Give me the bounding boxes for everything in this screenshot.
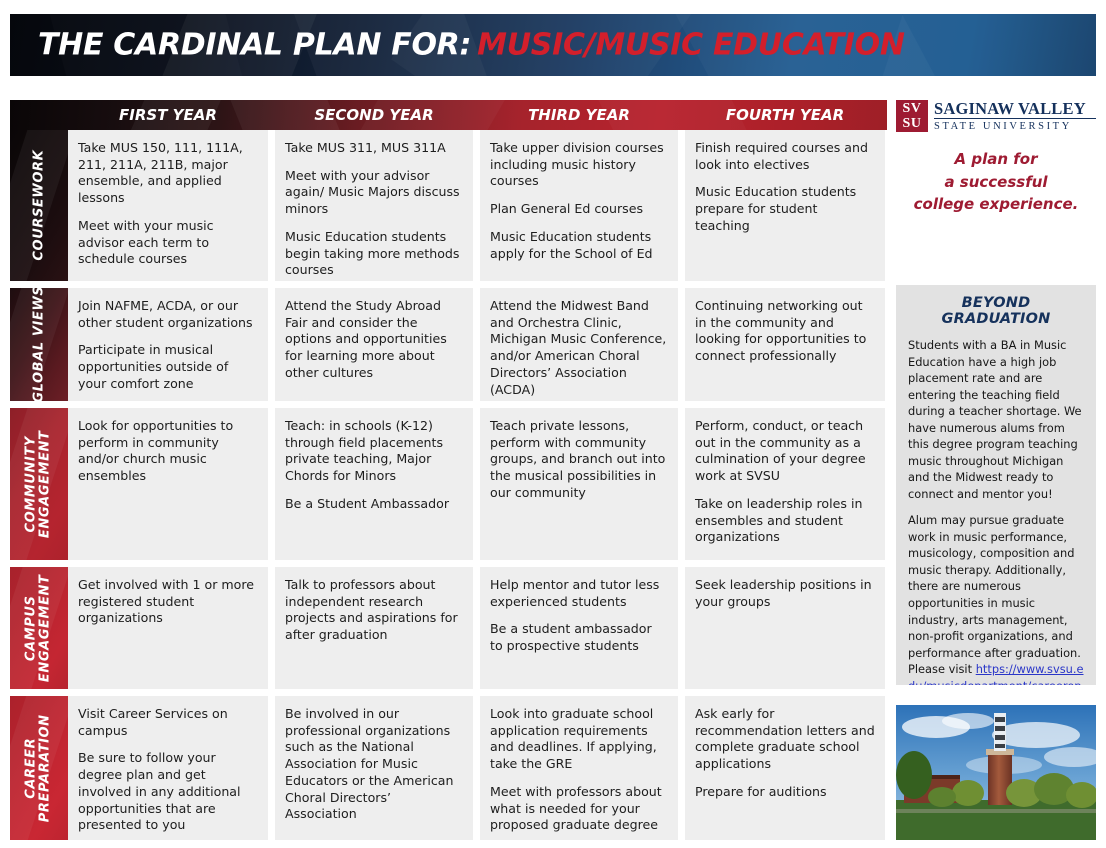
row-label-text: GLOBAL VIEWS [32,288,46,401]
banner-title-red: MUSIC/MUSIC EDUCATION [477,28,904,63]
beyond-paragraph-1: Students with a BA in Music Education ha… [908,337,1084,502]
svsu-logo: SV SU SAGINAW VALLEY STATE UNIVERSITY [896,100,1096,132]
cell-paragraph-1: Get involved with 1 or more registered s… [78,577,258,627]
row-label-coursework: COURSEWORK [10,130,68,281]
cell-r2-c4: Continuing networking out in the communi… [685,288,885,401]
cell-paragraph-1: Attend the Study Abroad Fair and conside… [285,298,463,382]
cell-paragraph-2: Take on leadership roles in ensembles an… [695,496,875,546]
page-banner: THE CARDINAL PLAN FOR:MUSIC/MUSIC EDUCAT… [10,14,1096,76]
beyond-graduation-panel: BEYOND GRADUATION Students with a BA in … [896,285,1096,685]
cell-paragraph-1: Join NAFME, ACDA, or our other student o… [78,298,258,331]
tagline-line-1: A plan for [896,148,1096,171]
cell-r2-c1: Join NAFME, ACDA, or our other student o… [68,288,268,401]
cell-paragraph-1: Teach private lessons, perform with comm… [490,418,668,502]
cell-paragraph-2: Meet with your music advisor each term t… [78,218,258,268]
cell-r5-c3: Look into graduate school application re… [480,696,678,840]
cell-paragraph-3: Music Education students begin taking mo… [285,229,463,279]
cell-paragraph-1: Help mentor and tutor less experienced s… [490,577,668,610]
row-label-community-engagement: COMMUNITYENGAGEMENT [10,408,68,560]
cell-paragraph-1: Perform, conduct, or teach out in the co… [695,418,875,485]
row-label-global-views: GLOBAL VIEWS [10,288,68,401]
cardinal-plan-infographic: THE CARDINAL PLAN FOR:MUSIC/MUSIC EDUCAT… [0,0,1106,848]
tagline-line-2: a successful [896,171,1096,194]
cell-paragraph-2: Prepare for auditions [695,784,875,801]
plan-grid: FIRST YEARSECOND YEARTHIRD YEARFOURTH YE… [10,100,1096,840]
cell-paragraph-2: Plan General Ed courses [490,201,668,218]
cell-paragraph-2: Be sure to follow your degree plan and g… [78,750,258,834]
tagline-line-3: college experience. [896,193,1096,216]
cell-paragraph-1: Ask early for recommendation letters and… [695,706,875,773]
beyond-graduation-title: BEYOND GRADUATION [908,295,1084,327]
cell-r4-c4: Seek leadership positions in your groups [685,567,885,689]
beyond-paragraph-2: Alum may pursue graduate work in music p… [908,512,1084,685]
cell-paragraph-3: Music Education students apply for the S… [490,229,668,262]
cell-paragraph-2: Meet with professors about what is neede… [490,784,668,834]
cell-r4-c1: Get involved with 1 or more registered s… [68,567,268,689]
cell-r1-c4: Finish required courses and look into el… [685,130,885,281]
logo-mark-line1: SV [896,101,928,116]
cell-paragraph-2: Participate in musical opportunities out… [78,342,258,392]
cell-r4-c2: Talk to professors about independent res… [275,567,473,689]
svsu-logo-mark: SV SU [896,100,928,132]
cell-paragraph-1: Attend the Midwest Band and Orchestra Cl… [490,298,668,398]
row-label-text: COURSEWORK [32,150,46,261]
cell-paragraph-1: Take MUS 311, MUS 311A [285,140,463,157]
cell-r2-c3: Attend the Midwest Band and Orchestra Cl… [480,288,678,401]
cell-r5-c2: Be involved in our professional organiza… [275,696,473,840]
cell-paragraph-1: Take upper division courses including mu… [490,140,668,190]
cell-paragraph-2: Music Education students prepare for stu… [695,184,875,234]
cell-paragraph-1: Seek leadership positions in your groups [695,577,875,610]
row-label-text: CAREERPREPARATION [25,714,54,822]
cell-paragraph-1: Look for opportunities to perform in com… [78,418,258,485]
cell-r1-c3: Take upper division courses including mu… [480,130,678,281]
cell-r3-c4: Perform, conduct, or teach out in the co… [685,408,885,560]
cell-paragraph-1: Look into graduate school application re… [490,706,668,773]
column-header-1: FIRST YEAR [68,100,268,130]
campus-photo-image [896,705,1096,840]
page-title: THE CARDINAL PLAN FOR:MUSIC/MUSIC EDUCAT… [38,28,905,63]
cell-r3-c3: Teach private lessons, perform with comm… [480,408,678,560]
column-header-3: THIRD YEAR [480,100,678,130]
cell-paragraph-1: Visit Career Services on campus [78,706,258,739]
cell-r3-c2: Teach: in schools (K-12) through field p… [275,408,473,560]
cell-paragraph-2: Be a Student Ambassador [285,496,463,513]
column-header-4: FOURTH YEAR [685,100,885,130]
cell-r5-c4: Ask early for recommendation letters and… [685,696,885,840]
banner-title-white: THE CARDINAL PLAN FOR: [38,28,471,63]
row-label-campus-engagement: CAMPUSENGAGEMENT [10,567,68,689]
cell-paragraph-1: Continuing networking out in the communi… [695,298,875,365]
cell-paragraph-1: Be involved in our professional organiza… [285,706,463,823]
logo-name-line1: SAGINAW VALLEY [934,100,1096,119]
row-label-career-preparation: CAREERPREPARATION [10,696,68,840]
tagline: A plan fora successfulcollege experience… [896,148,1096,216]
column-header-2: SECOND YEAR [275,100,473,130]
cell-paragraph-1: Finish required courses and look into el… [695,140,875,173]
beyond-p2-before: Alum may pursue graduate work in music p… [908,513,1081,676]
row-label-text: COMMUNITYENGAGEMENT [25,430,54,538]
cell-r2-c2: Attend the Study Abroad Fair and conside… [275,288,473,401]
svsu-logo-wordmark: SAGINAW VALLEY STATE UNIVERSITY [934,100,1096,133]
logo-mark-line2: SU [896,116,928,131]
row-label-text: CAMPUSENGAGEMENT [25,574,54,682]
cell-r1-c2: Take MUS 311, MUS 311AMeet with your adv… [275,130,473,281]
cell-paragraph-2: Meet with your advisor again/ Music Majo… [285,168,463,218]
cell-r3-c1: Look for opportunities to perform in com… [68,408,268,560]
cell-r5-c1: Visit Career Services on campusBe sure t… [68,696,268,840]
cell-paragraph-1: Teach: in schools (K-12) through field p… [285,418,463,485]
cell-paragraph-2: Be a student ambassador to prospective s… [490,621,668,654]
cell-paragraph-1: Take MUS 150, 111, 111A, 211, 211A, 211B… [78,140,258,207]
cell-paragraph-1: Talk to professors about independent res… [285,577,463,644]
logo-name-line2: STATE UNIVERSITY [934,119,1096,133]
campus-photo [896,705,1096,840]
cell-r4-c3: Help mentor and tutor less experienced s… [480,567,678,689]
cell-r1-c1: Take MUS 150, 111, 111A, 211, 211A, 211B… [68,130,268,281]
